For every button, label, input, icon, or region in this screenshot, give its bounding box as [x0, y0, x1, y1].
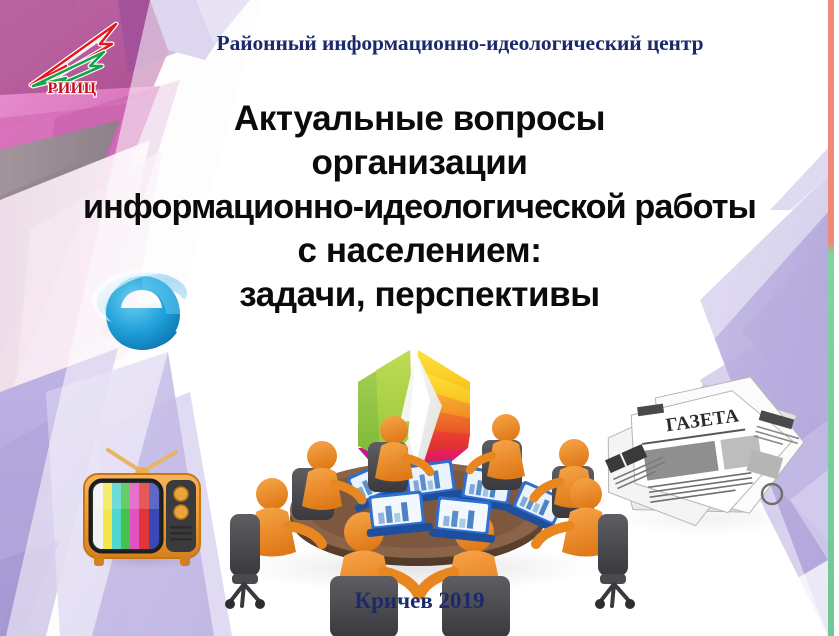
- title-line-3: информационно-идеологической работы: [0, 185, 839, 229]
- footer-place-year: Кричев 2019: [0, 588, 839, 614]
- header-title: Районный информационно-идеологический це…: [120, 31, 800, 56]
- page-title: Актуальные вопросы организации информаци…: [0, 97, 839, 317]
- title-line-1: Актуальные вопросы: [0, 97, 839, 141]
- title-line-4: с населением:: [0, 229, 839, 273]
- title-line-2: организации: [0, 141, 839, 185]
- title-line-5: задачи, перспективы: [0, 273, 839, 317]
- slide-text-layer: Районный информационно-идеологический це…: [0, 0, 839, 636]
- presentation-slide: РИИЦ: [0, 0, 839, 636]
